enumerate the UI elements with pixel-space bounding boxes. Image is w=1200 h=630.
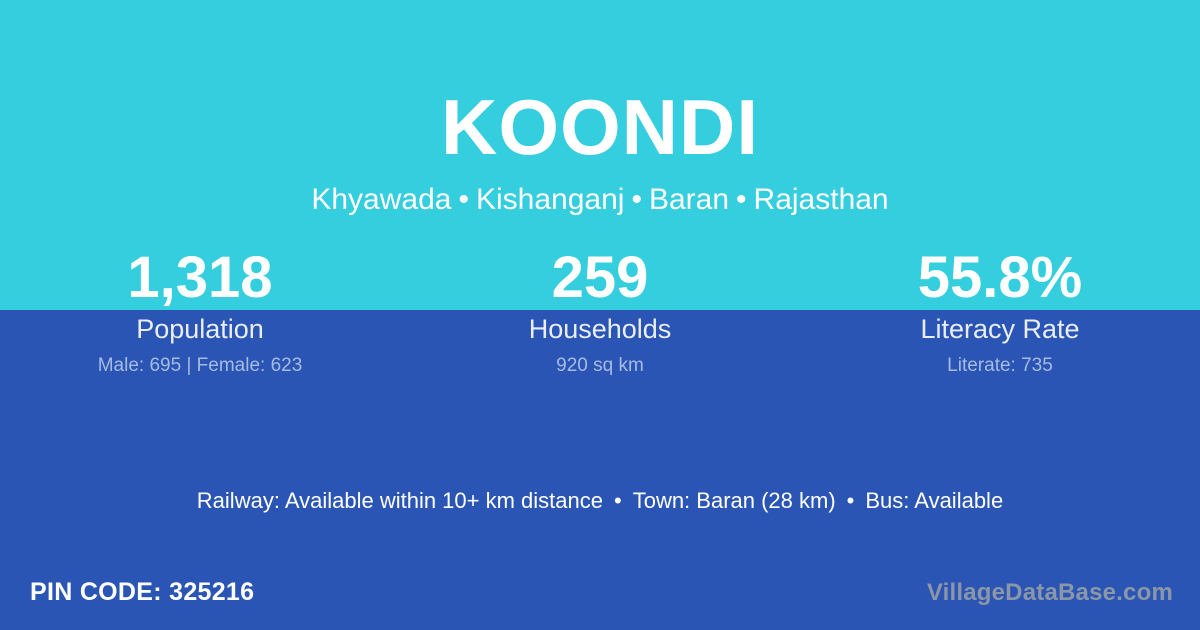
stat-literacy-rate: 55.8% Literacy Rate Literate: 735 bbox=[800, 245, 1200, 379]
breadcrumb: Khyawada•Kishanganj•Baran•Rajasthan bbox=[0, 181, 1200, 219]
stat-population: 1,318 Population Male: 695 | Female: 623 bbox=[0, 245, 400, 379]
pin-code: PIN CODE: 325216 bbox=[30, 577, 254, 607]
village-info-card: KOONDI Khyawada•Kishanganj•Baran•Rajasth… bbox=[0, 0, 1200, 630]
page-title: KOONDI bbox=[0, 84, 1200, 170]
stat-value: 259 bbox=[400, 245, 800, 311]
stat-households: 259 Households 920 sq km bbox=[400, 245, 800, 379]
infra-item-town: Town: Baran (28 km) bbox=[633, 488, 836, 513]
stats-row: 1,318 Population Male: 695 | Female: 623… bbox=[0, 245, 1200, 379]
stat-value: 55.8% bbox=[800, 245, 1200, 311]
breadcrumb-item-state: Rajasthan bbox=[754, 183, 889, 216]
stat-value: 1,318 bbox=[0, 245, 400, 311]
breadcrumb-item-block: Khyawada bbox=[311, 183, 451, 216]
infra-separator: • bbox=[836, 488, 866, 513]
stat-label: Population bbox=[0, 312, 400, 346]
breadcrumb-separator: • bbox=[624, 183, 649, 216]
stat-label: Literacy Rate bbox=[800, 312, 1200, 346]
breadcrumb-separator: • bbox=[729, 183, 754, 216]
breadcrumb-item-district: Baran bbox=[649, 183, 729, 216]
stat-sublabel: Literate: 735 bbox=[800, 353, 1200, 379]
infra-item-bus: Bus: Available bbox=[865, 488, 1003, 513]
stat-sublabel: Male: 695 | Female: 623 bbox=[0, 353, 400, 379]
breadcrumb-item-tehsil: Kishanganj bbox=[476, 183, 624, 216]
stat-label: Households bbox=[400, 312, 800, 346]
infrastructure-line: Railway: Available within 10+ km distanc… bbox=[0, 486, 1200, 516]
site-branding: VillageDataBase.com bbox=[927, 578, 1173, 608]
breadcrumb-separator: • bbox=[451, 183, 476, 216]
infra-item-railway: Railway: Available within 10+ km distanc… bbox=[197, 488, 603, 513]
infra-separator: • bbox=[603, 488, 633, 513]
stat-sublabel: 920 sq km bbox=[400, 353, 800, 379]
